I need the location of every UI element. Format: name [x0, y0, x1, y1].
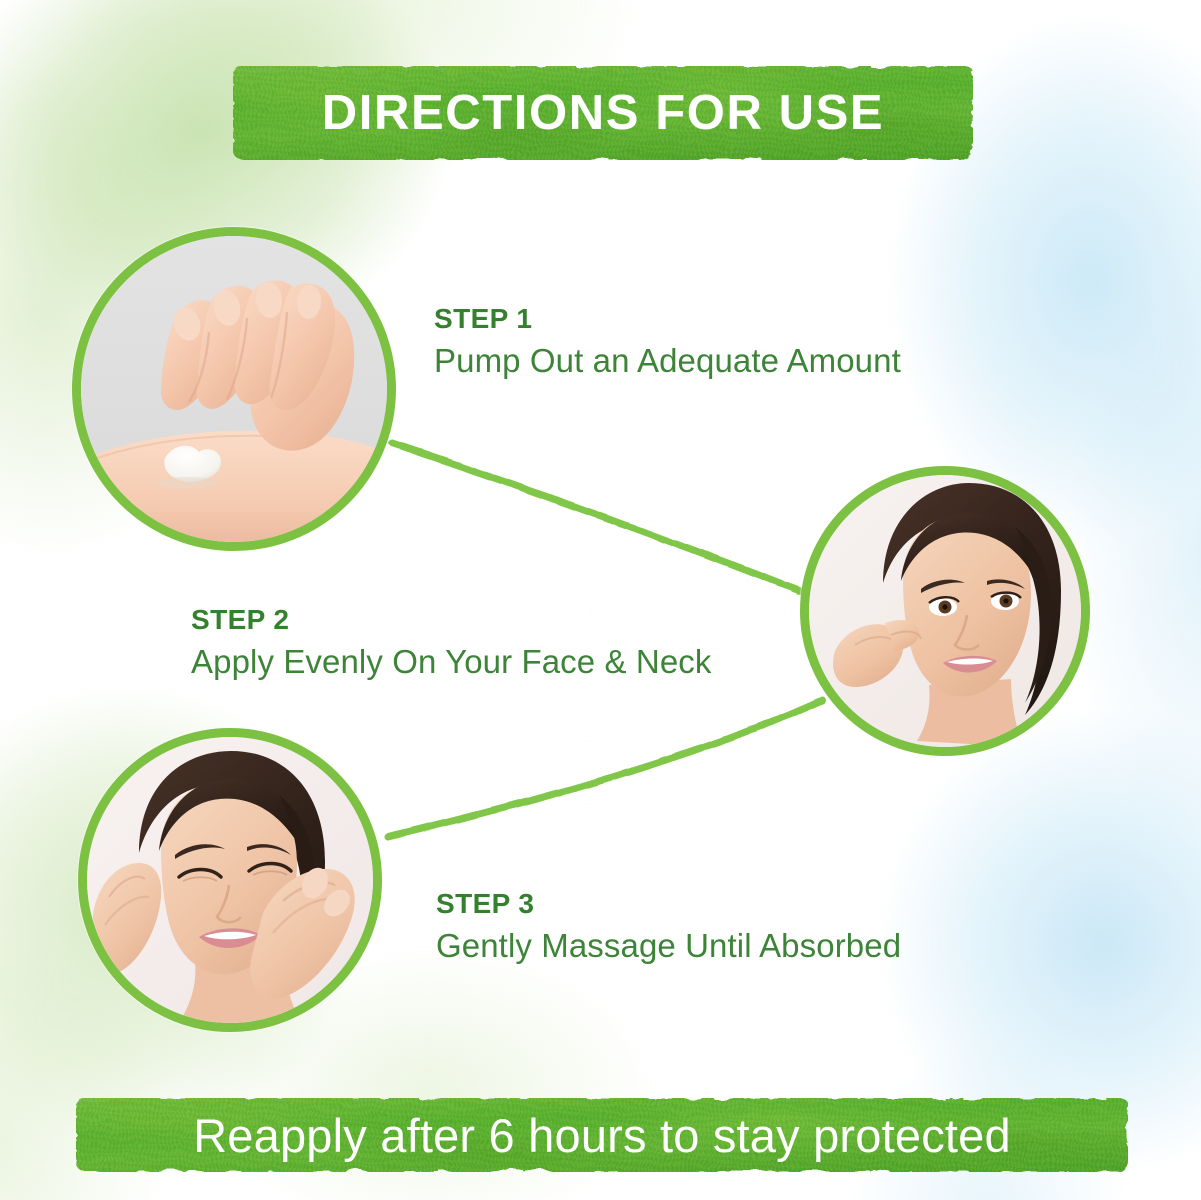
step-1-description: Pump Out an Adequate Amount — [434, 341, 901, 381]
step-3-description: Gently Massage Until Absorbed — [436, 926, 901, 966]
woman-massaging-face-illustration — [87, 737, 373, 1023]
step-2-description: Apply Evenly On Your Face & Neck — [191, 642, 711, 682]
step-2-photo — [800, 466, 1090, 756]
step-1-label: STEP 1 — [434, 303, 901, 335]
directions-for-use-poster: DIRECTIONS FOR USE — [0, 0, 1201, 1200]
woman-applying-cream-illustration — [809, 475, 1081, 747]
hand-cream-illustration — [81, 236, 387, 542]
header-banner: DIRECTIONS FOR USE — [233, 66, 973, 160]
reapply-reminder-text: Reapply after 6 hours to stay protected — [193, 1108, 1011, 1163]
step-3-label: STEP 3 — [436, 888, 901, 920]
step-1-text-block: STEP 1 Pump Out an Adequate Amount — [434, 303, 901, 381]
step-3-photo — [78, 728, 382, 1032]
connector-curve-step2-to-step3 — [388, 700, 822, 837]
step-1-photo — [72, 227, 396, 551]
step-3-text-block: STEP 3 Gently Massage Until Absorbed — [436, 888, 901, 966]
connector-curve-step1-to-step2 — [392, 443, 812, 596]
step-2-photo-inner — [809, 475, 1081, 747]
step-2-text-block: STEP 2 Apply Evenly On Your Face & Neck — [191, 604, 711, 682]
step-2-label: STEP 2 — [191, 604, 711, 636]
page-title: DIRECTIONS FOR USE — [322, 85, 884, 141]
step-1-photo-inner — [81, 236, 387, 542]
step-3-photo-inner — [87, 737, 373, 1023]
footer-banner: Reapply after 6 hours to stay protected — [76, 1098, 1128, 1172]
